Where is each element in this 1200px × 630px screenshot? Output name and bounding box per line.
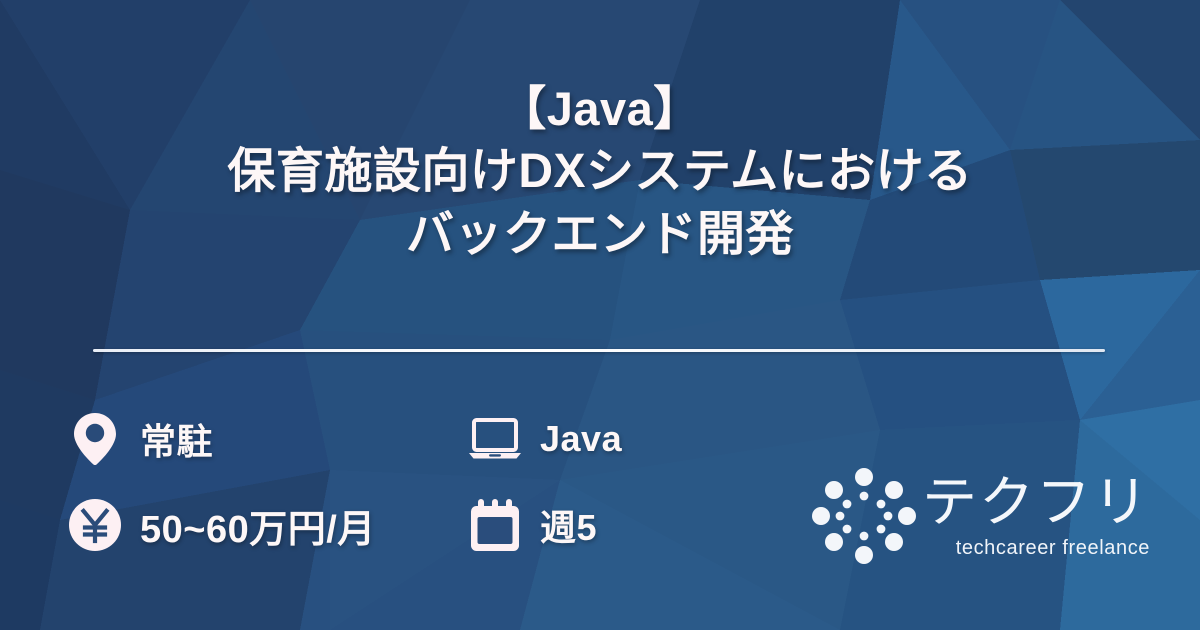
- meta-item-skill: Java: [468, 412, 768, 466]
- page-title: 【Java】 保育施設向けDXシステムにおける バックエンド開発: [0, 78, 1200, 267]
- meta-item-rate: 50~60万円/月: [68, 498, 468, 553]
- meta-item-workdays: 週5: [468, 498, 768, 552]
- job-summary-card: 【Java】 保育施設向けDXシステムにおける バックエンド開発 常駐: [0, 0, 1200, 630]
- title-line-3: バックエンド開発: [0, 203, 1200, 266]
- yen-circle-icon: [68, 498, 122, 552]
- calendar-icon: [468, 498, 522, 552]
- meta-label-rate: 50~60万円/月: [140, 498, 376, 553]
- meta-item-worksite: 常駐: [68, 412, 468, 466]
- brand-logo: テクフリ techcareer freelance: [812, 466, 1132, 566]
- logo-name-en: techcareer freelance: [956, 538, 1150, 558]
- location-pin-icon: [68, 412, 122, 466]
- dot-ring-logo-icon: [812, 468, 916, 564]
- job-meta-list: 常駐 Java: [68, 396, 788, 568]
- meta-label-workdays: 週5: [540, 499, 597, 551]
- meta-row: 50~60万円/月 週5: [68, 482, 788, 568]
- title-line-2: 保育施設向けDXシステムにおける: [0, 140, 1200, 203]
- title-line-1: 【Java】: [0, 78, 1200, 140]
- logo-name-jp: テクフリ: [922, 475, 1150, 530]
- laptop-icon: [468, 412, 522, 466]
- meta-label-skill: Java: [540, 418, 622, 460]
- divider: [93, 349, 1105, 352]
- meta-label-worksite: 常駐: [140, 413, 213, 465]
- meta-row: 常駐 Java: [68, 396, 788, 482]
